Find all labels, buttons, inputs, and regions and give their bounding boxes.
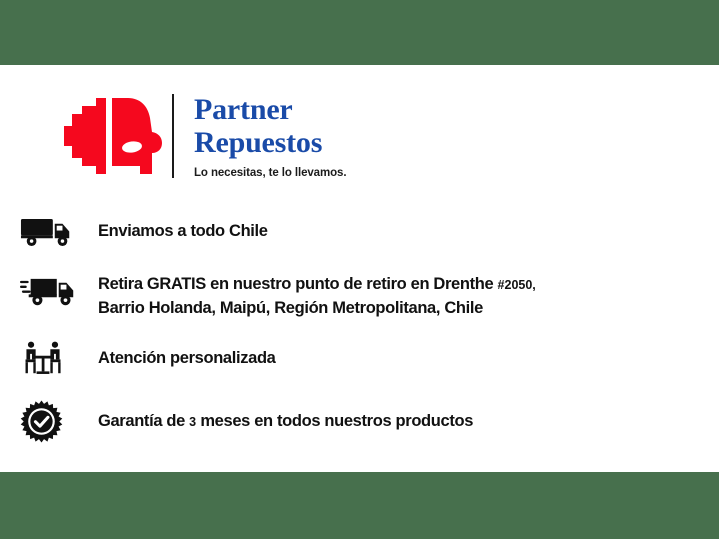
logo-divider [172, 94, 174, 178]
feature-line: Garantía de 3 meses en todos nuestros pr… [98, 410, 473, 434]
top-green-band [0, 0, 719, 65]
feature-row: Atención personalizada [20, 338, 276, 378]
delivery-truck-icon [20, 214, 82, 248]
promo-banner: Partner Repuestos Lo necesitas, te lo ll… [0, 0, 719, 539]
feature-row: Garantía de 3 meses en todos nuestros pr… [20, 399, 473, 443]
feature-seg: Garantía de [98, 412, 189, 430]
people-at-table-icon [20, 338, 82, 378]
feature-line: Enviamos a todo Chile [98, 220, 268, 243]
brand-line-2: Repuestos [194, 126, 346, 159]
brand-logo: Partner Repuestos Lo necesitas, te lo ll… [60, 92, 346, 180]
moving-truck-icon [20, 270, 82, 310]
feature-seg: Barrio Holanda, Maipú, Región Metropolit… [98, 299, 483, 317]
bottom-green-band [0, 472, 719, 539]
brand-tagline: Lo necesitas, te lo llevamos. [194, 167, 346, 179]
feature-text: Retira GRATIS en nuestro punto de retiro… [82, 270, 536, 320]
gear-car-icon [60, 92, 164, 180]
feature-line: Barrio Holanda, Maipú, Región Metropolit… [98, 297, 536, 320]
feature-seg: Atención personalizada [98, 349, 276, 367]
feature-seg: Retira GRATIS en nuestro punto de retiro… [98, 275, 498, 293]
brand-line-1: Partner [194, 93, 346, 126]
feature-text: Enviamos a todo Chile [82, 214, 268, 243]
feature-line: Atención personalizada [98, 347, 276, 370]
feature-line: Retira GRATIS en nuestro punto de retiro… [98, 273, 536, 297]
feature-seg-small: #2050, [498, 278, 536, 292]
feature-row: Retira GRATIS en nuestro punto de retiro… [20, 270, 536, 320]
feature-seg: Enviamos a todo Chile [98, 222, 268, 240]
guarantee-badge-icon [20, 399, 82, 443]
brand-wordmark: Partner Repuestos Lo necesitas, te lo ll… [194, 93, 346, 179]
feature-seg: meses en todos nuestros productos [196, 412, 473, 430]
feature-text: Garantía de 3 meses en todos nuestros pr… [82, 399, 473, 434]
feature-text: Atención personalizada [82, 338, 276, 370]
feature-row: Enviamos a todo Chile [20, 214, 268, 248]
